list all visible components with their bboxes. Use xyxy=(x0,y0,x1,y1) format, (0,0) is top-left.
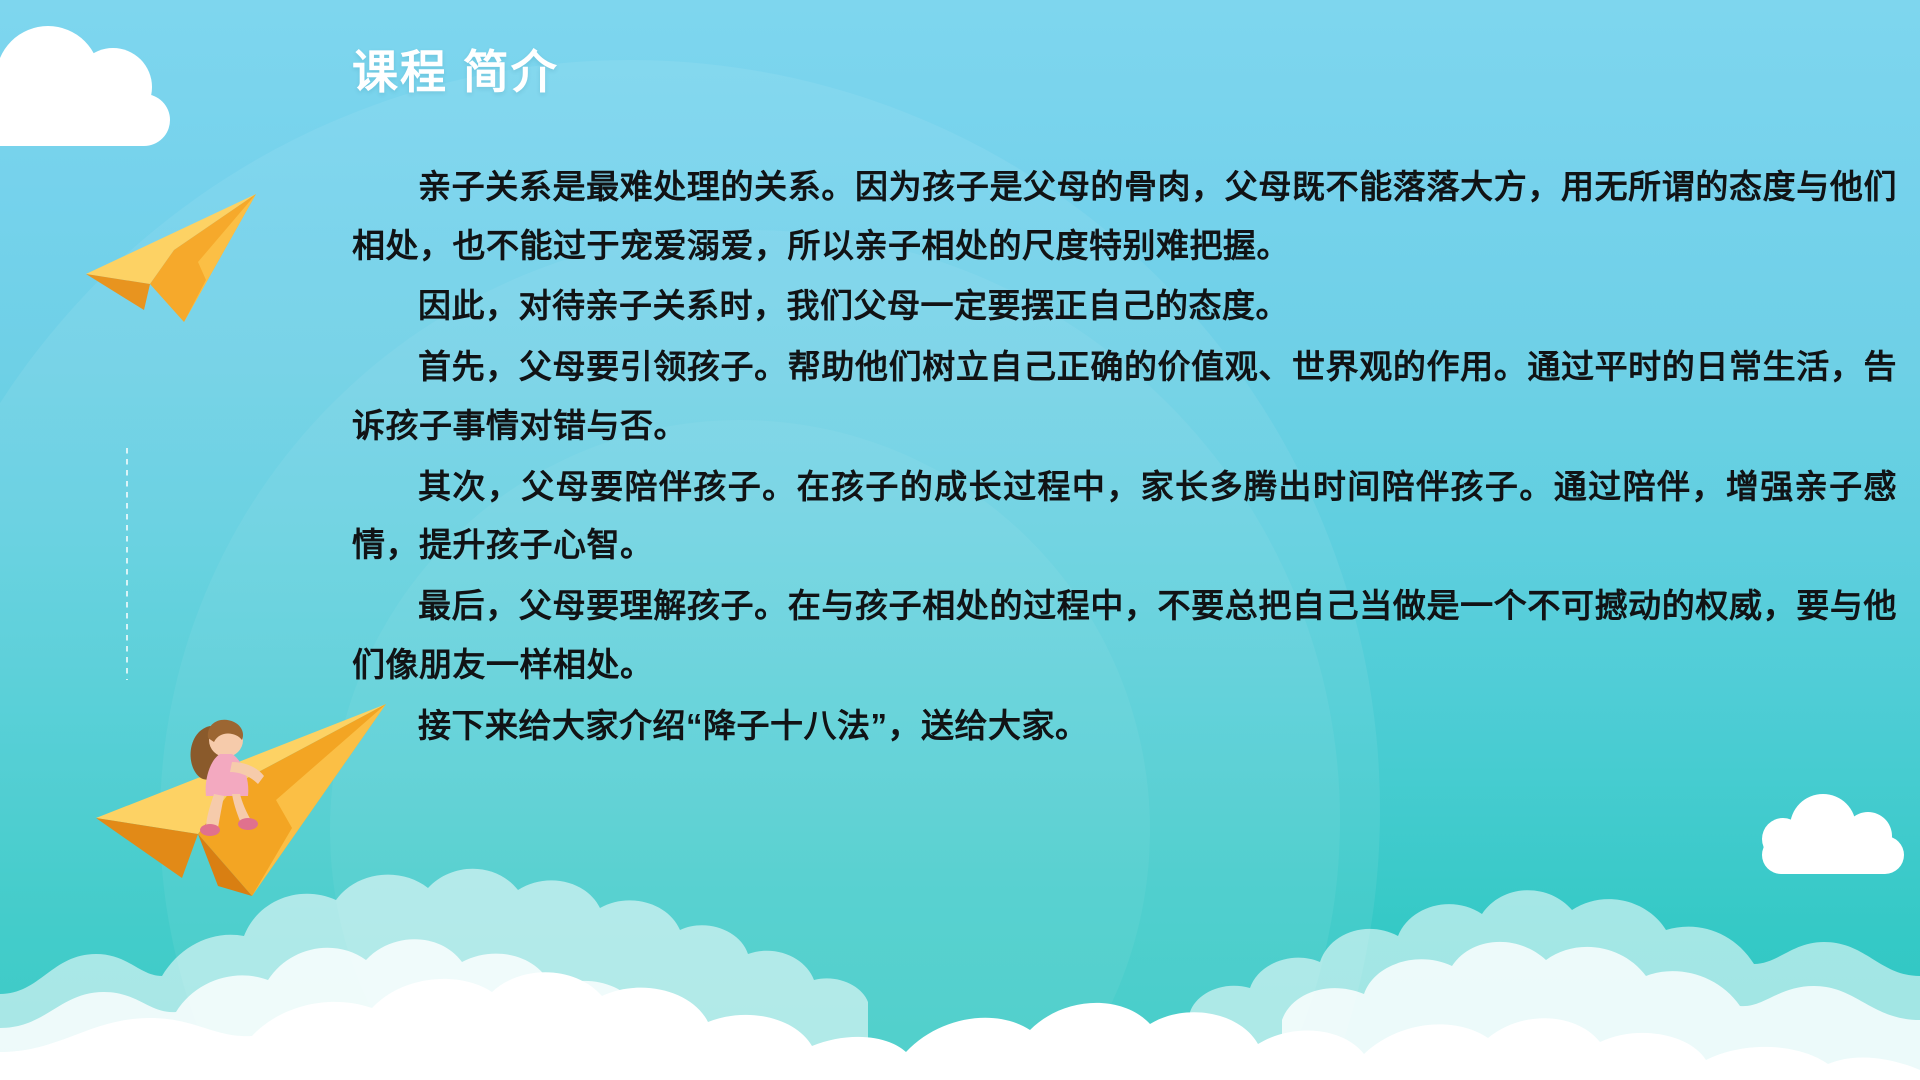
cloud-band-icon xyxy=(0,780,1920,1080)
dotted-line-icon xyxy=(126,448,128,680)
paper-plane-icon-small xyxy=(78,188,308,343)
cloud-icon-top-left xyxy=(0,20,200,150)
paragraph: 接下来给大家介绍“降子十八法”，送给大家。 xyxy=(352,697,1897,756)
body-text-block: 亲子关系是最难处理的关系。因为孩子是父母的骨肉，父母既不能落落大方，用无所谓的态… xyxy=(352,158,1897,757)
page-title: 课程 简介 xyxy=(352,36,559,102)
paragraph: 因此，对待亲子关系时，我们父母一定要摆正自己的态度。 xyxy=(352,277,1897,336)
paragraph: 其次，父母要陪伴孩子。在孩子的成长过程中，家长多腾出时间陪伴孩子。通过陪伴，增强… xyxy=(352,458,1897,575)
paragraph: 最后，父母要理解孩子。在与孩子相处的过程中，不要总把自己当做是一个不可撼动的权威… xyxy=(352,577,1897,694)
paragraph: 首先，父母要引领孩子。帮助他们树立自己正确的价值观、世界观的作用。通过平时的日常… xyxy=(352,338,1897,455)
paragraph: 亲子关系是最难处理的关系。因为孩子是父母的骨肉，父母既不能落落大方，用无所谓的态… xyxy=(352,158,1897,275)
slide-canvas: 课程 简介 亲子关系是最难处理的关系。因为孩子是父母的骨肉，父母既不能落落大方，… xyxy=(0,0,1920,1080)
